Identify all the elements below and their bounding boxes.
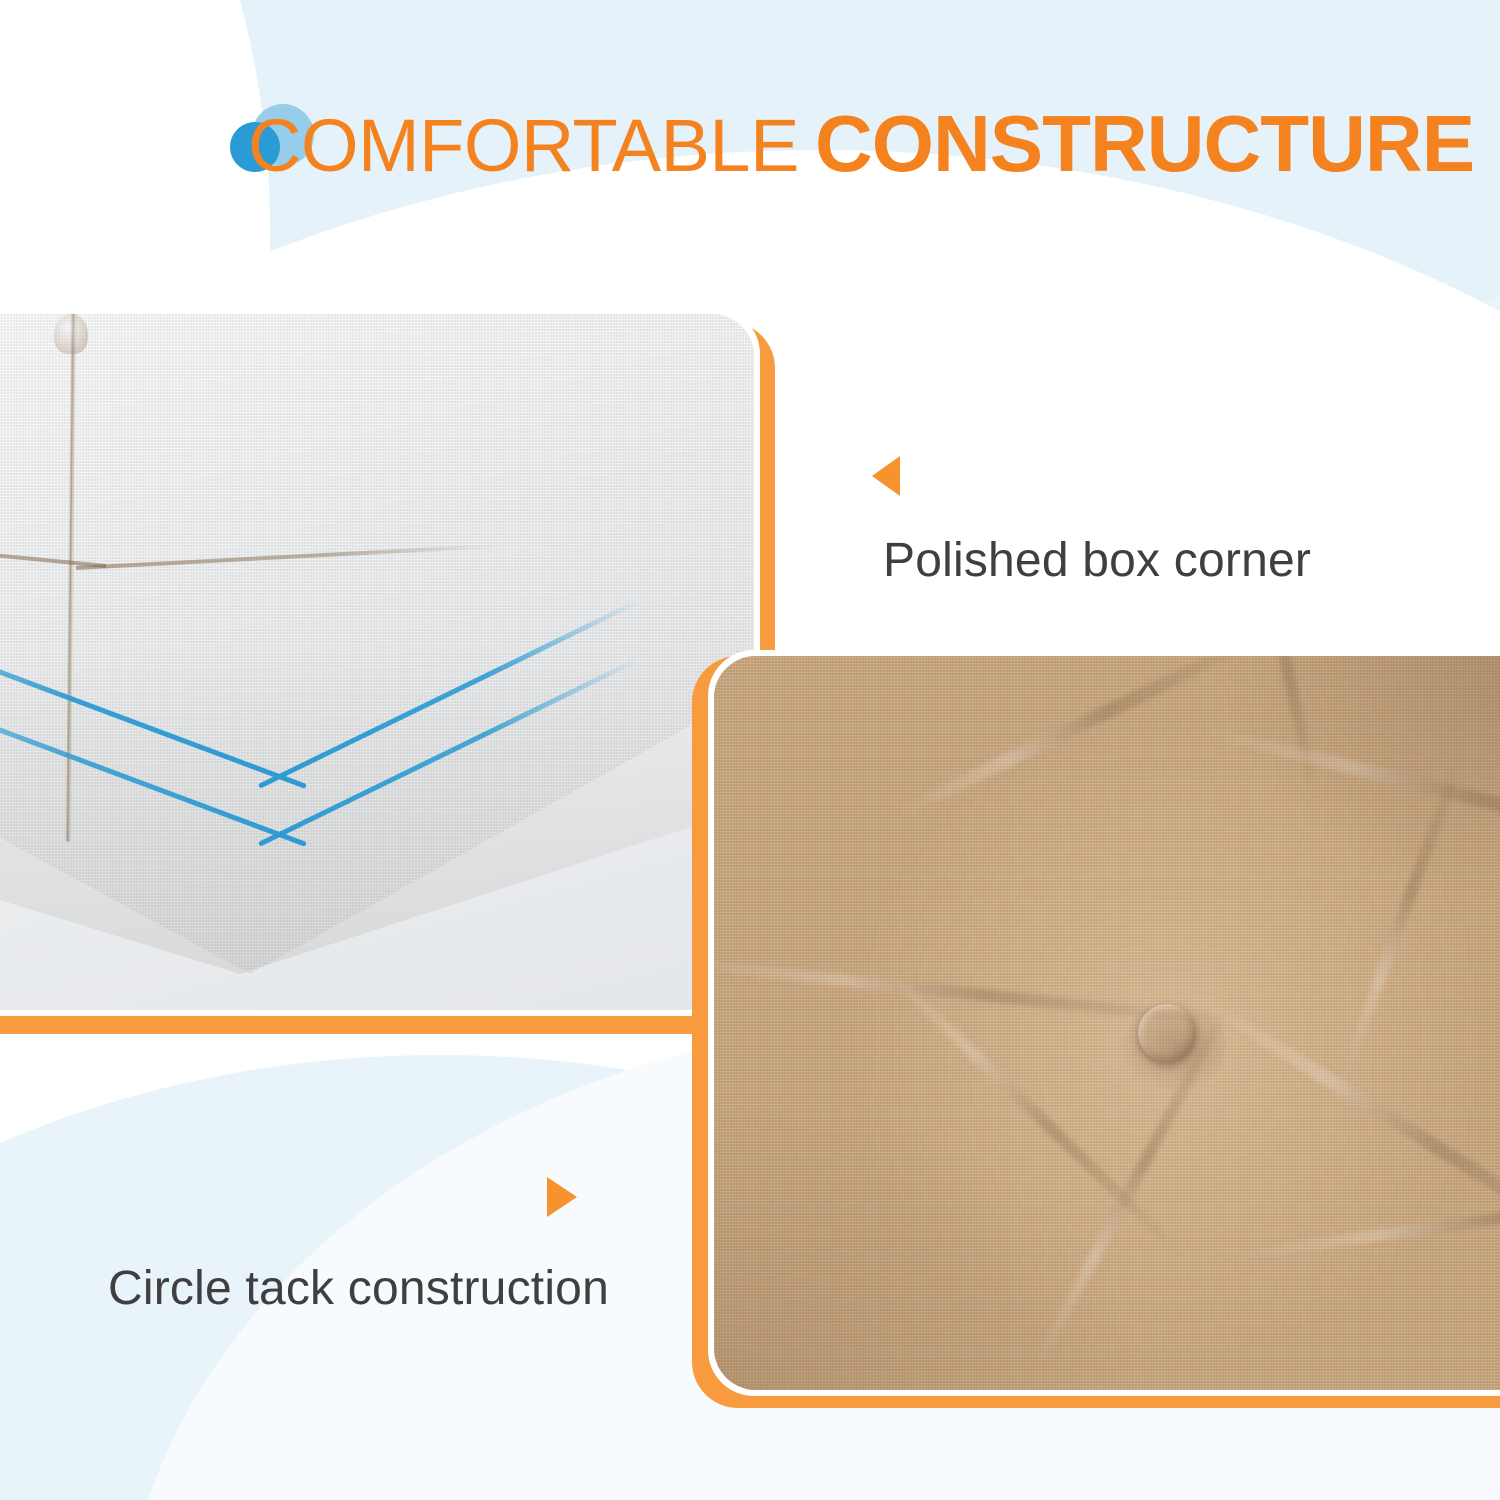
page-title: COMFORTABLECONSTRUCTURE — [248, 104, 1474, 184]
page-title-bold: CONSTRUCTURE — [815, 99, 1474, 188]
header: COMFORTABLECONSTRUCTURE — [0, 0, 1500, 290]
triangle-left-icon — [872, 456, 900, 496]
callout-label-circle-tack-construction: Circle tack construction — [108, 1261, 609, 1316]
triangle-right-icon — [547, 1177, 577, 1217]
circle-tack-photo — [714, 656, 1500, 1390]
page-title-light: COMFORTABLE — [248, 104, 799, 187]
callout-label-polished-box-corner: Polished box corner — [883, 533, 1311, 588]
polished-box-corner-photo — [0, 314, 754, 1010]
corner-seam-knot — [54, 314, 88, 354]
circle-tack-button — [1138, 1004, 1196, 1062]
right-photo-shade-topright — [1206, 656, 1500, 916]
infographic-canvas: COMFORTABLECONSTRUCTURE — [0, 0, 1500, 1500]
right-photo-shade-bottomleft — [714, 1090, 1154, 1390]
